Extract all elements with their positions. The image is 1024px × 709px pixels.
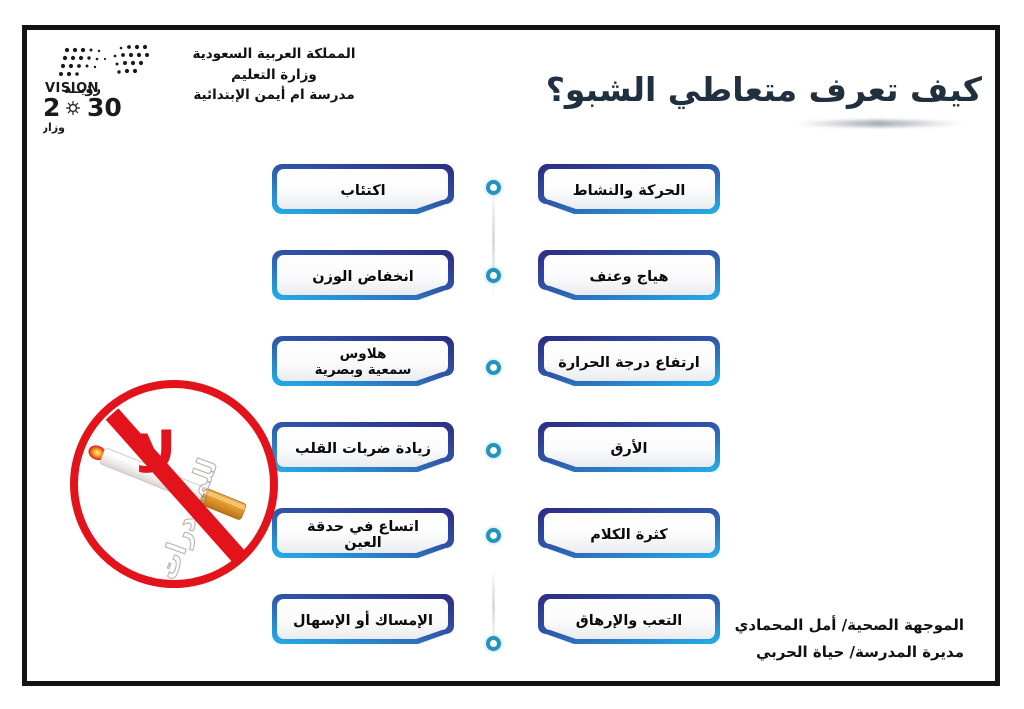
symptom-box[interactable]: هياج وعنف xyxy=(534,246,724,308)
connector-dot-5 xyxy=(486,528,501,543)
center-connector xyxy=(480,160,506,660)
credits-block: الموجهة الصحية/ أمل المحمادي مديرة المدر… xyxy=(735,612,964,668)
connector-dot-1 xyxy=(486,180,501,195)
symptom-box[interactable]: ارتفاع درجة الحرارة xyxy=(534,332,724,394)
symptom-box[interactable]: هلاوس سمعية وبصرية xyxy=(268,332,458,394)
symptom-label: هياج وعنف xyxy=(554,269,704,285)
symptom-label: الأرق xyxy=(554,441,704,457)
title-underline-shadow xyxy=(794,120,964,127)
connector-line-bottom xyxy=(492,568,495,646)
symptom-box[interactable]: انخفاض الوزن xyxy=(268,246,458,308)
page-title: كيف تعرف متعاطي الشبو؟ xyxy=(546,70,982,109)
vision-2030-logo: VISION رؤيــة 2 30 وزارة التـعـلـيم xyxy=(43,38,161,134)
symptom-column-right: الحركة والنشاط هياج وعنف ارتفاع درجة الح… xyxy=(534,160,724,676)
symptom-box[interactable]: التعب والإرهاق xyxy=(534,590,724,652)
symptom-label: التعب والإرهاق xyxy=(554,613,704,629)
symptom-label: هلاوس سمعية وبصرية xyxy=(288,347,438,378)
symptom-column-left: اكتئاب انخفاض الوزن هلاوس سمعية وبصرية xyxy=(268,160,458,676)
connector-dot-3 xyxy=(486,360,501,375)
symptom-box[interactable]: الإمساك أو الإسهال xyxy=(268,590,458,652)
symptom-label: ارتفاع درجة الحرارة xyxy=(554,355,704,371)
poster-page: VISION رؤيــة 2 30 وزارة التـعـلـيم xyxy=(0,0,1024,709)
connector-dot-2 xyxy=(486,268,501,283)
symptom-label: الحركة والنشاط xyxy=(554,183,704,199)
connector-dot-6 xyxy=(486,636,501,651)
symptom-box[interactable]: كثرة الكلام xyxy=(534,504,724,566)
ministry-header: المملكة العربية السعودية وزارة التعليم م… xyxy=(176,44,372,106)
ministry-line-1: المملكة العربية السعودية xyxy=(176,44,372,65)
credit-school-principal: مديرة المدرسة/ حياة الحربي xyxy=(735,639,964,667)
svg-text:30: 30 xyxy=(87,93,122,122)
symptom-box[interactable]: اكتئاب xyxy=(268,160,458,222)
svg-text:وزارة التـعـلـيم: وزارة التـعـلـيم xyxy=(43,121,65,134)
svg-text:2: 2 xyxy=(43,93,60,122)
symptom-label: كثرة الكلام xyxy=(554,527,704,543)
ministry-line-3: مدرسة ام أيمن الإبتدائية xyxy=(176,85,372,106)
ministry-line-2: وزارة التعليم xyxy=(176,65,372,86)
symptom-box[interactable]: اتساع في حدقة العين xyxy=(268,504,458,566)
connector-dot-4 xyxy=(486,443,501,458)
credit-health-supervisor: الموجهة الصحية/ أمل المحمادي xyxy=(735,612,964,640)
symptom-label: زيادة ضربات القلب xyxy=(288,441,438,457)
symptom-box[interactable]: الأرق xyxy=(534,418,724,480)
symptom-label: اتساع في حدقة العين xyxy=(288,519,438,551)
symptom-box[interactable]: الحركة والنشاط xyxy=(534,160,724,222)
no-smoking-sign: لا للمخدرات xyxy=(68,372,280,594)
symptom-label: الإمساك أو الإسهال xyxy=(288,613,438,629)
symptom-box[interactable]: زيادة ضربات القلب xyxy=(268,418,458,480)
symptom-label: اكتئاب xyxy=(288,183,438,199)
symptom-label: انخفاض الوزن xyxy=(288,269,438,285)
